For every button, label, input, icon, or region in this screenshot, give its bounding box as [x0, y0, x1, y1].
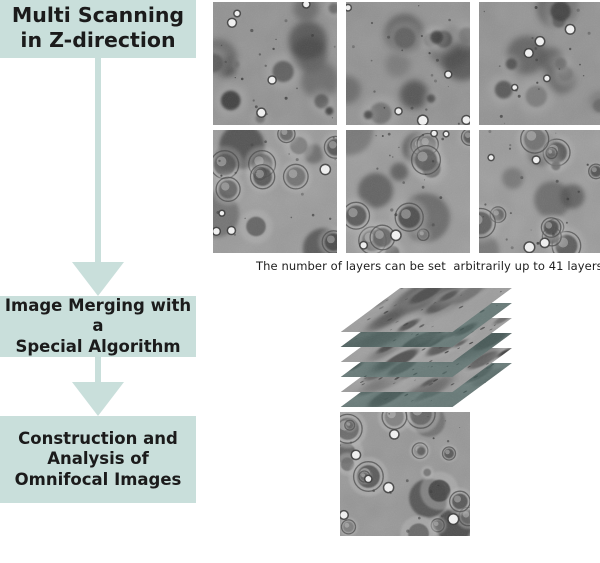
- flow-step-image-merging: Image Merging with a Special Algorithm: [0, 296, 196, 357]
- flow-step-multi-scanning-label: Multi Scanning in Z-direction: [12, 3, 184, 54]
- micrograph-grid: [213, 2, 600, 253]
- layer-stack-graphic: [340, 288, 475, 390]
- micrograph-z-slice-5: [346, 130, 470, 253]
- arrow-head-icon: [72, 382, 124, 416]
- flow-step-multi-scanning: Multi Scanning in Z-direction: [0, 0, 196, 58]
- micrograph-z-slice-6: [479, 130, 600, 253]
- layer-count-caption: The number of layers can be set arbitrar…: [256, 259, 600, 273]
- arrow-head-icon: [72, 262, 124, 296]
- flow-step-construction-analysis: Construction and Analysis of Omnifocal I…: [0, 416, 196, 503]
- arrow-merge-to-construction: [0, 357, 196, 416]
- micrograph-z-slice-2: [346, 2, 470, 125]
- micrograph-z-slice-3: [479, 2, 600, 125]
- micrograph-z-slice-4: [213, 130, 337, 253]
- flow-step-construction-analysis-label: Construction and Analysis of Omnifocal I…: [15, 429, 182, 490]
- arrow-scan-to-merge: [0, 58, 196, 296]
- omnifocal-result-image: [340, 412, 470, 536]
- micrograph-z-slice-1: [213, 2, 337, 125]
- arrow-shaft: [95, 357, 101, 382]
- arrow-shaft: [95, 58, 101, 262]
- flow-step-image-merging-label: Image Merging with a Special Algorithm: [0, 296, 196, 357]
